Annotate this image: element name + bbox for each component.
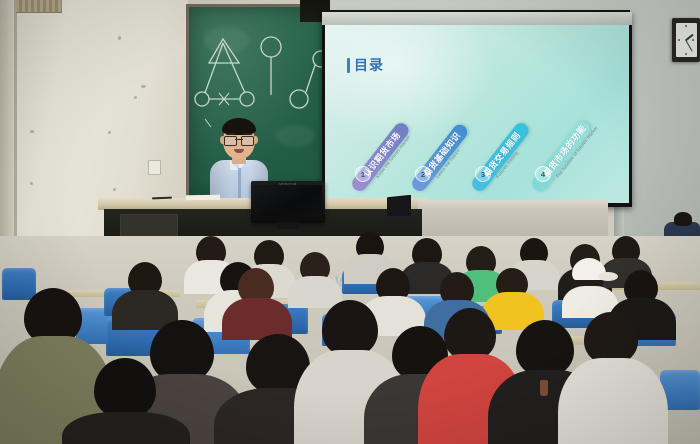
- audience-head: [584, 312, 638, 364]
- laptop-base: [382, 216, 418, 220]
- clock-tick: [692, 39, 694, 41]
- cap-brim: [598, 272, 618, 281]
- wall-seam: [14, 0, 17, 250]
- wall-mark: [30, 182, 33, 185]
- water-bottle: [540, 380, 548, 396]
- toc-item-4-number: 4: [535, 166, 551, 182]
- audience-shoulders: [62, 412, 190, 444]
- ceiling-strip: [330, 0, 630, 10]
- screen-header-bar: [322, 12, 632, 25]
- toc-item-3-number: 3: [475, 166, 491, 182]
- clock-tick: [685, 53, 687, 55]
- wall-mark: [113, 188, 116, 191]
- clock-face: [676, 23, 697, 57]
- clock-tick: [685, 25, 687, 27]
- slide-toc: 认识期货市场 1 Know the futures market 期货基础知识 …: [325, 25, 629, 203]
- lens-left: [224, 136, 237, 146]
- toc-item-1-number: 1: [355, 166, 371, 182]
- paper-sheet: [186, 195, 220, 201]
- glasses-bridge: [235, 139, 243, 140]
- projection-screen: 目录 认识期货市场 1 Know the futures market 期货基础…: [322, 12, 632, 207]
- presentation-slide: 目录 认识期货市场 1 Know the futures market 期货基础…: [325, 25, 629, 203]
- audience-head: [150, 320, 214, 382]
- lecture-seat[interactable]: [2, 268, 36, 300]
- monitor-brand-label: MONITOR: [279, 182, 297, 186]
- monitor-screen: [254, 185, 322, 216]
- toc-item-4: 期货市场的功能: [529, 119, 593, 194]
- brow-left: [226, 133, 235, 135]
- lens-right: [241, 136, 254, 146]
- toc-item-3: 期货交易规则: [469, 120, 531, 194]
- standing-person-head: [674, 212, 692, 226]
- monitor-stand: [277, 222, 299, 229]
- glasses-icon: [224, 136, 254, 144]
- wall-mark: [30, 130, 34, 133]
- toc-item-1: 认识期货市场: [349, 120, 411, 194]
- wall-mark: [118, 36, 121, 40]
- toc-item-2: 期货基础知识: [409, 122, 470, 194]
- toc-item-2-number: 2: [415, 166, 431, 182]
- lecture-hall-photo: 目录 认识期货市场 1 Know the futures market 期货基础…: [0, 0, 700, 444]
- audience-head: [322, 300, 378, 356]
- wall-mark: [134, 96, 137, 99]
- wall-clock: [672, 18, 700, 62]
- audience-head: [94, 358, 156, 418]
- wall-mark: [108, 131, 111, 134]
- audience-shoulders: [288, 276, 342, 308]
- vent-icon: [16, 0, 62, 13]
- wall-mark: [141, 85, 146, 88]
- audience-shoulders: [558, 358, 668, 444]
- clock-minute-hand: [685, 40, 693, 52]
- clock-tick: [678, 39, 680, 41]
- brow-right: [243, 133, 252, 135]
- wall-trim: [0, 0, 14, 250]
- audience-head: [444, 308, 496, 360]
- podium-monitor[interactable]: MONITOR: [251, 181, 325, 223]
- light-switch-icon[interactable]: [148, 160, 161, 175]
- audience-head: [516, 320, 574, 376]
